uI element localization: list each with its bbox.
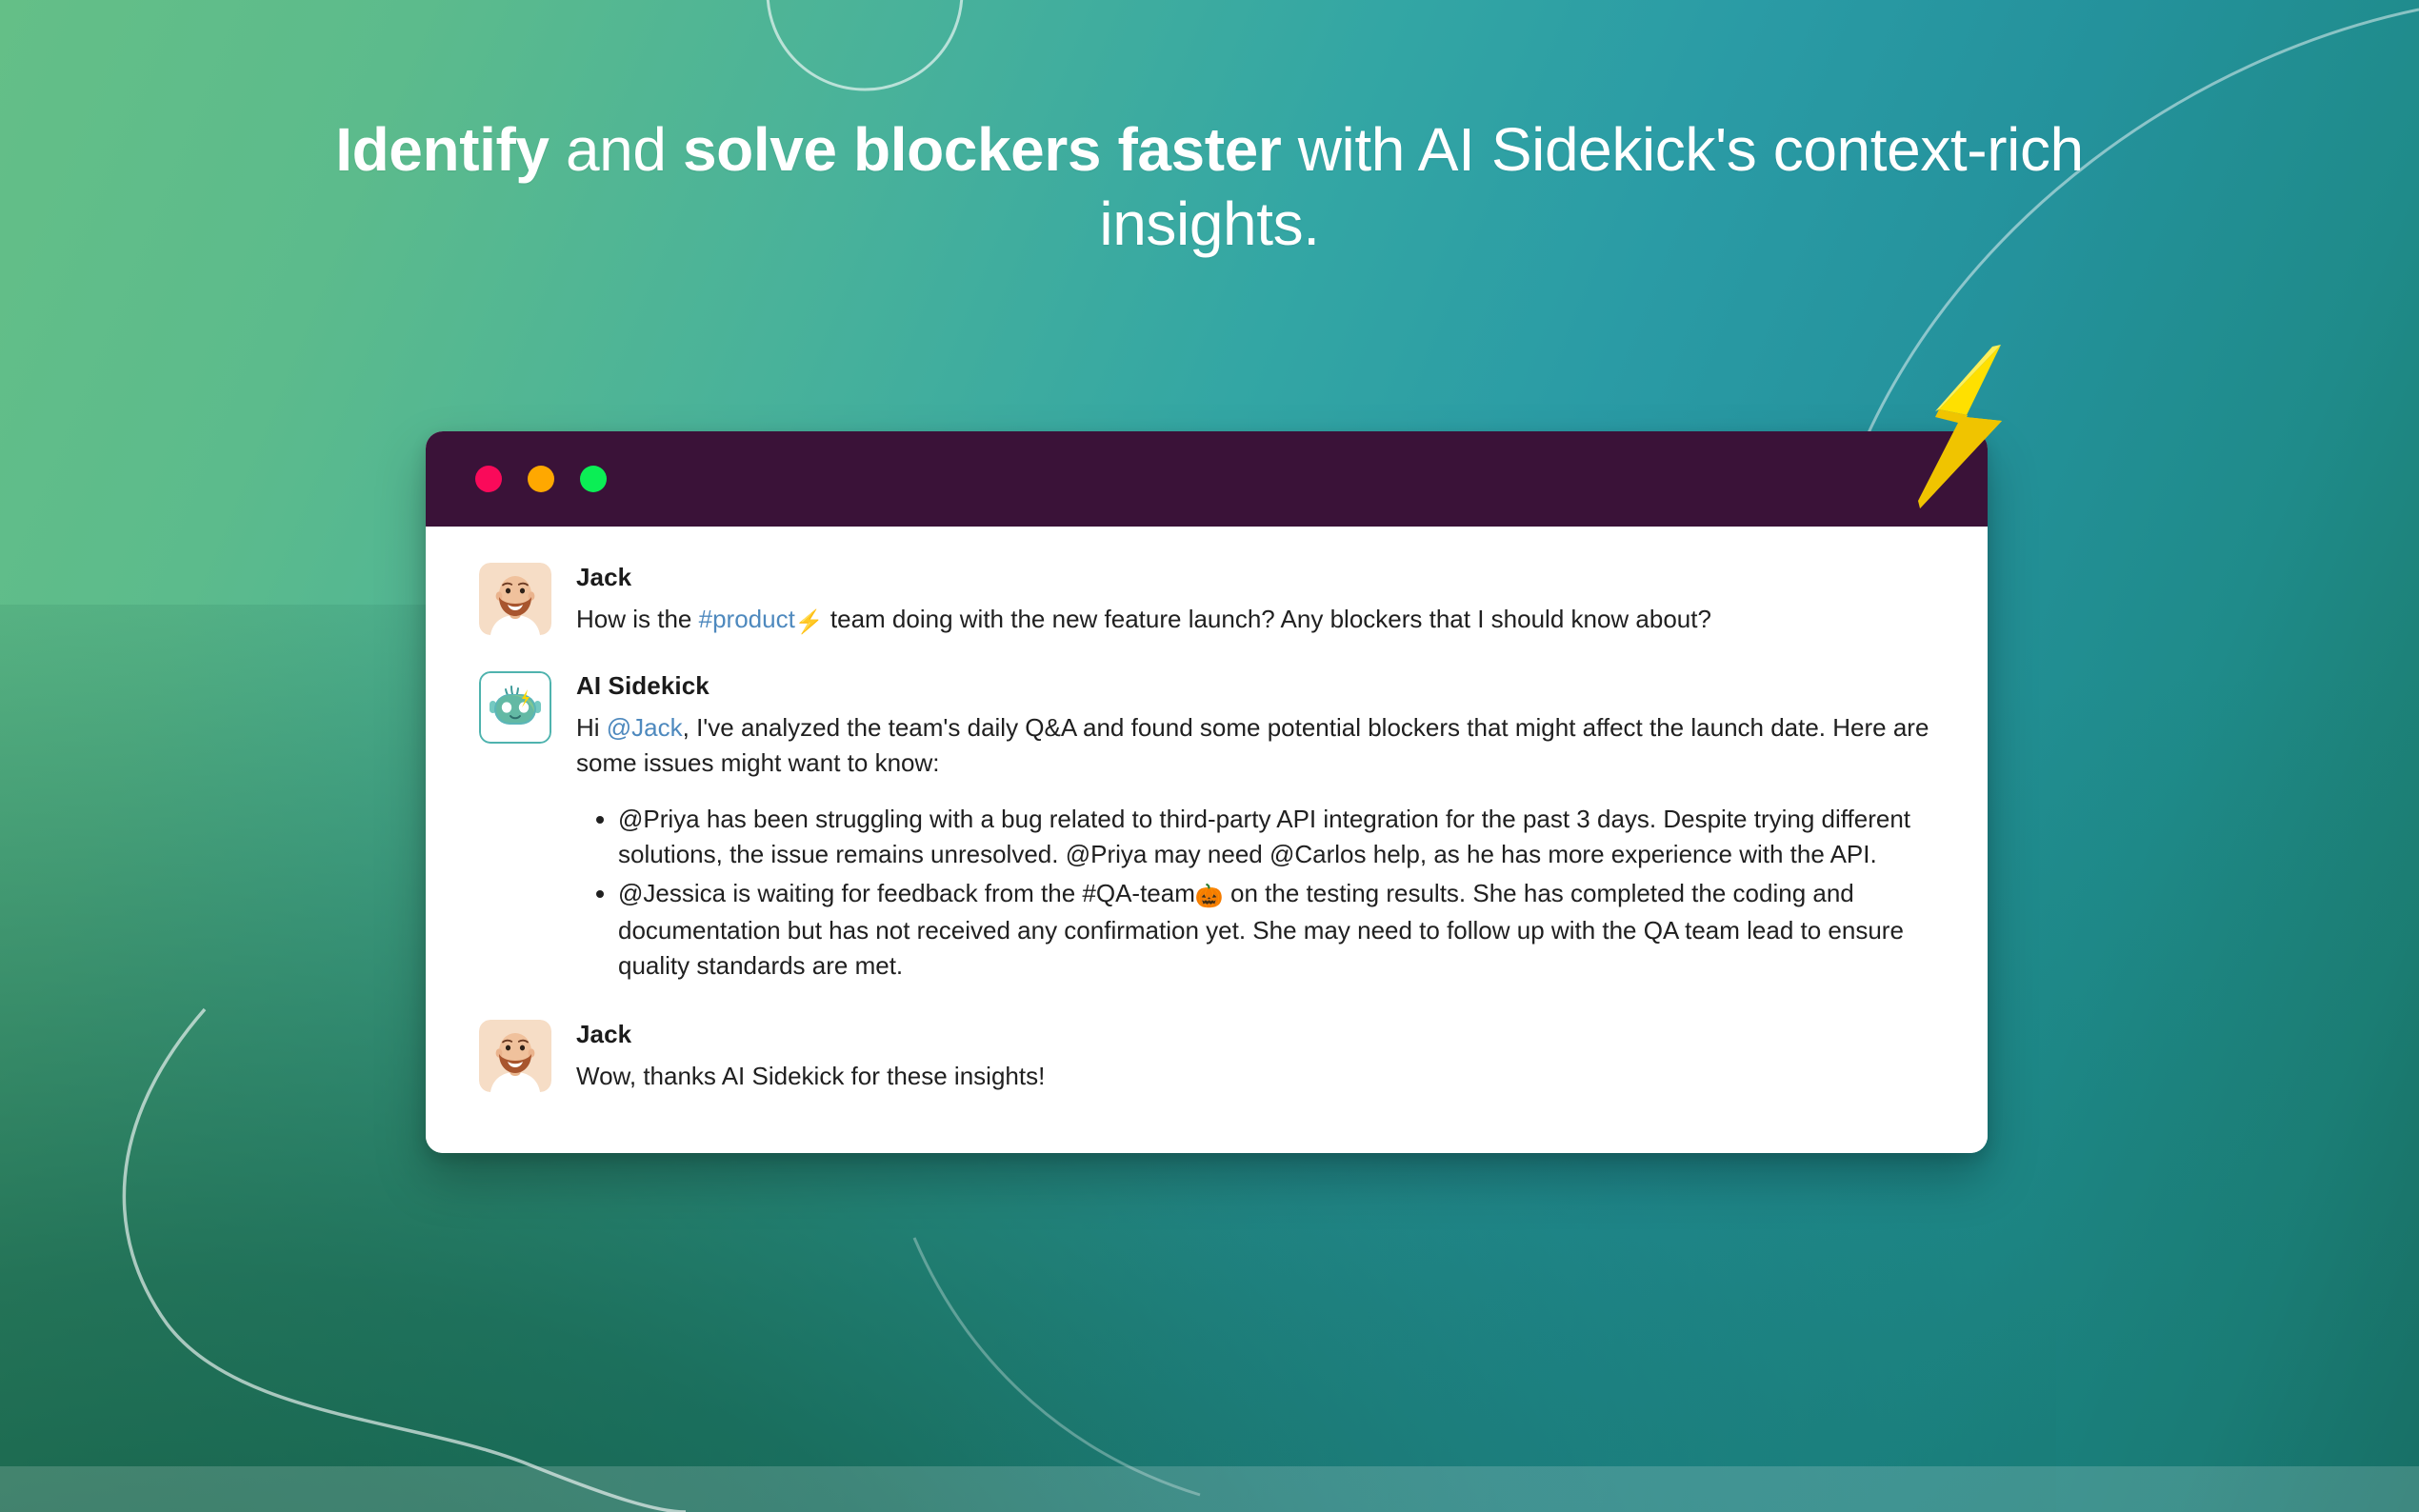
channel-link-product[interactable]: #product	[699, 605, 795, 633]
chat-message: AI Sidekick Hi @Jack, I've analyzed the …	[479, 671, 1934, 987]
bullet-segment: may need	[1147, 840, 1269, 868]
headline-emphasis-1: Identify	[335, 115, 549, 184]
message-text: Hi @Jack, I've analyzed the team's daily…	[576, 710, 1934, 781]
blocker-list: @Priya has been struggling with a bug re…	[576, 802, 1934, 984]
mention-priya[interactable]: @Priya	[618, 805, 700, 833]
channel-link-qa-team[interactable]: #QA-team	[1082, 879, 1195, 907]
chat-message: Jack How is the #product⚡ team doing wit…	[479, 563, 1934, 639]
chat-window: Jack How is the #product⚡ team doing wit…	[426, 431, 1988, 1153]
window-titlebar	[426, 431, 1988, 527]
background-bottom-band	[0, 1466, 2419, 1512]
bullet-segment: is waiting for feedback from the	[726, 879, 1082, 907]
close-button[interactable]	[475, 466, 502, 492]
message-text-pre: How is the	[576, 605, 699, 633]
message-text-post: team doing with the new feature launch? …	[824, 605, 1711, 633]
hero-headline: Identify and solve blockers faster with …	[0, 112, 2419, 261]
message-author: Jack	[576, 1020, 1934, 1049]
chat-message-list: Jack How is the #product⚡ team doing wit…	[426, 527, 1988, 1153]
avatar	[479, 671, 551, 744]
high-voltage-icon: ⚡	[795, 609, 824, 635]
chat-message: Jack Wow, thanks AI Sidekick for these i…	[479, 1020, 1934, 1094]
message-author: AI Sidekick	[576, 671, 1934, 701]
avatar	[479, 563, 551, 635]
list-item: @Priya has been struggling with a bug re…	[618, 802, 1934, 872]
jack-o-lantern-icon: 🎃	[1195, 884, 1224, 909]
minimize-button[interactable]	[528, 466, 554, 492]
message-text: Wow, thanks AI Sidekick for these insigh…	[576, 1059, 1934, 1094]
message-author: Jack	[576, 563, 1934, 592]
mention-priya-2[interactable]: @Priya	[1066, 840, 1148, 868]
mention-jack[interactable]: @Jack	[607, 713, 683, 742]
zoom-button[interactable]	[580, 466, 607, 492]
message-intro-pre: Hi	[576, 713, 607, 742]
mention-carlos[interactable]: @Carlos	[1269, 840, 1367, 868]
bullet-segment: help, as he has more experience with the…	[1367, 840, 1877, 868]
message-intro-post: , I've analyzed the team's daily Q&A and…	[576, 713, 1929, 777]
headline-emphasis-2: solve blockers faster	[683, 115, 1281, 184]
list-item: @Jessica is waiting for feedback from th…	[618, 876, 1934, 984]
mention-jessica[interactable]: @Jessica	[618, 879, 726, 907]
avatar	[479, 1020, 551, 1092]
hero-section: Identify and solve blockers faster with …	[0, 0, 2419, 1512]
message-text: How is the #product⚡ team doing with the…	[576, 602, 1934, 639]
headline-plain-1: and	[550, 115, 683, 184]
